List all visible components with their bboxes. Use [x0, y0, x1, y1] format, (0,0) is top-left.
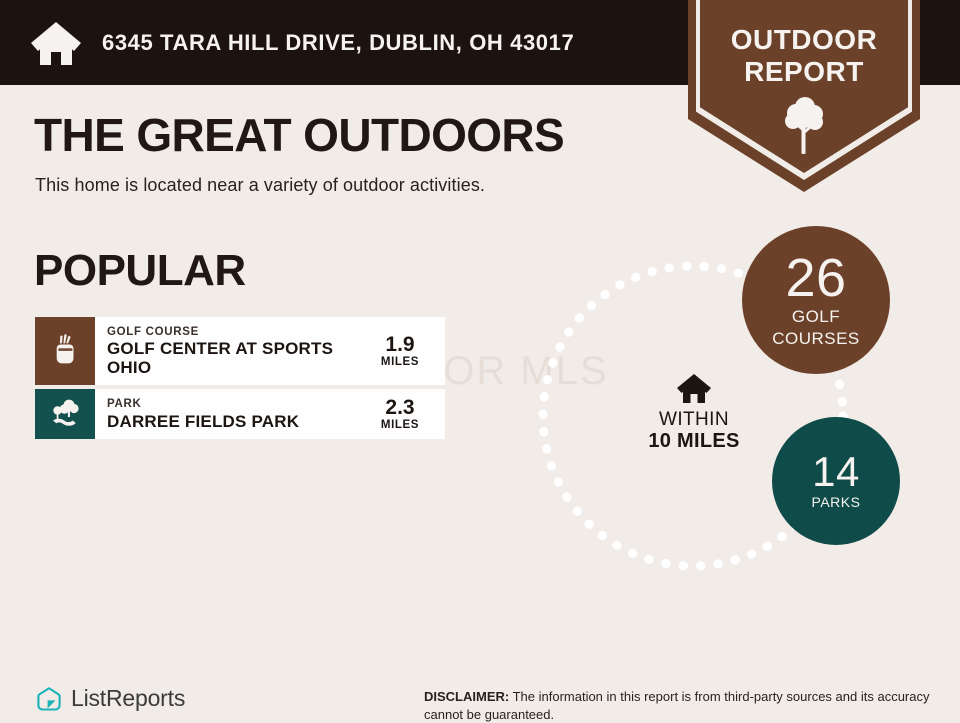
stat-circle-golf-courses: 26 GOLF COURSES [742, 226, 890, 374]
page-title: THE GREAT OUTDOORS [34, 112, 564, 158]
radius-line2: 10 MILES [614, 430, 774, 453]
distance-unit: MILES [381, 356, 419, 368]
list-item[interactable]: GOLF COURSE GOLF CENTER AT SPORTS OHIO 1… [35, 317, 445, 385]
park-trees-icon [48, 395, 82, 434]
stat-value: 14 [812, 452, 860, 492]
list-item-distance: 1.9 MILES [361, 317, 445, 385]
listreports-wordmark: ListReports [71, 685, 185, 712]
outdoor-report-page: 6345 TARA HILL DRIVE, DUBLIN, OH 43017 O… [0, 0, 960, 720]
list-item-category: PARK [107, 397, 355, 411]
property-address: 6345 TARA HILL DRIVE, DUBLIN, OH 43017 [102, 30, 574, 56]
stat-label-line2: COURSES [772, 330, 860, 348]
list-item-icon-tile [35, 317, 95, 385]
list-item-icon-tile [35, 389, 95, 438]
list-item[interactable]: PARK DARREE FIELDS PARK 2.3 MILES [35, 389, 445, 438]
stat-label-line1: GOLF [792, 308, 840, 326]
home-icon [614, 372, 774, 404]
distance-unit: MILES [381, 419, 419, 431]
listreports-logo[interactable]: ListReports [36, 685, 185, 712]
stat-value: 26 [785, 253, 846, 304]
home-icon [30, 19, 82, 67]
list-item-category: GOLF COURSE [107, 325, 355, 339]
popular-list: GOLF COURSE GOLF CENTER AT SPORTS OHIO 1… [35, 317, 445, 443]
header-content: 6345 TARA HILL DRIVE, DUBLIN, OH 43017 [30, 0, 574, 85]
disclaimer: DISCLAIMER: The information in this repo… [424, 688, 944, 723]
page-subtitle: This home is located near a variety of o… [35, 175, 485, 196]
list-item-name: DARREE FIELDS PARK [107, 412, 355, 431]
badge-line1: OUTDOOR [688, 26, 920, 54]
distance-value: 1.9 [385, 334, 414, 356]
popular-heading: POPULAR [34, 249, 246, 293]
stat-label-line1: PARKS [812, 495, 861, 510]
outdoor-report-badge: OUTDOOR REPORT [688, 0, 920, 192]
radius-line1: WITHIN [614, 410, 774, 430]
list-item-distance: 2.3 MILES [361, 389, 445, 438]
listreports-pin-icon [36, 686, 62, 712]
list-item-text: PARK DARREE FIELDS PARK [95, 389, 361, 438]
badge-line2: REPORT [688, 58, 920, 86]
distance-value: 2.3 [385, 397, 414, 419]
disclaimer-label: DISCLAIMER: [424, 689, 509, 704]
list-item-name: GOLF CENTER AT SPORTS OHIO [107, 339, 355, 377]
golf-bag-icon [48, 332, 82, 371]
stat-circle-parks: 14 PARKS [772, 417, 900, 545]
tree-icon [781, 96, 827, 158]
radius-label: WITHIN 10 MILES [614, 372, 774, 453]
list-item-text: GOLF COURSE GOLF CENTER AT SPORTS OHIO [95, 317, 361, 385]
